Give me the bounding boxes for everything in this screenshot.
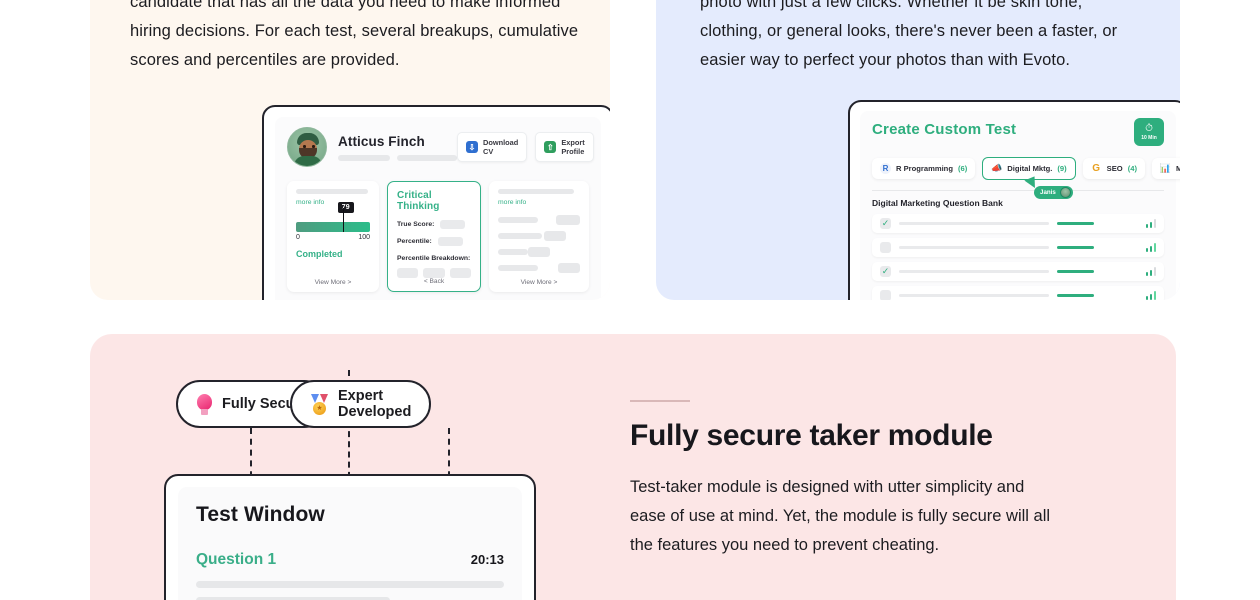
- skeleton-bar: [338, 155, 390, 161]
- tab-seo-count: (4): [1128, 164, 1137, 173]
- percentile-breakdown-boxes: [397, 268, 471, 278]
- pink-section-paragraph: Test-taker module is designed with utter…: [630, 473, 1060, 560]
- percentile-breakdown-label: Percentile Breakdown:: [397, 255, 471, 262]
- question-row[interactable]: [872, 286, 1164, 300]
- score-gauge-bar: [296, 222, 370, 232]
- create-test-mockup-inner: Create Custom Test ⏱ 10 Min R R Programm…: [860, 111, 1176, 300]
- download-cv-button[interactable]: ⇩ Download CV: [457, 132, 527, 162]
- skeleton-bar: [498, 265, 538, 271]
- question-row[interactable]: ✓: [872, 262, 1164, 281]
- difficulty-bars-icon: [1146, 243, 1156, 252]
- details-row: [498, 231, 580, 241]
- tab-seo-label: SEO: [1107, 164, 1123, 173]
- percentile-label: Percentile:: [397, 238, 432, 245]
- question-progress-bar: [1057, 270, 1094, 274]
- score-gauge-pin: [343, 208, 345, 232]
- page-root: candidate that has all the data you need…: [0, 0, 1260, 600]
- collaborator-tooltip: Janis: [1034, 186, 1073, 199]
- avatar-eye-left: [303, 145, 306, 148]
- avatar-eye-right: [312, 145, 315, 148]
- pink-section-heading: Fully secure taker module: [630, 419, 1090, 453]
- skeleton-bar: [498, 249, 528, 255]
- tab-ms-power-label: MS Powe: [1176, 164, 1180, 173]
- profile-header: Atticus Finch ⇩ Download CV ⇧: [287, 127, 589, 167]
- download-cv-label: Download CV: [483, 138, 518, 156]
- badge-expert-developed-label: Expert Developed: [338, 388, 411, 420]
- tab-digital-mktg-label: Digital Mktg.: [1007, 164, 1052, 173]
- heading-rule: [630, 400, 690, 402]
- profile-actions: ⇩ Download CV ⇧ Export Profile: [457, 132, 594, 162]
- skill-card[interactable]: Critical Thinking True Score: Percentile…: [387, 181, 481, 292]
- question-text-placeholder: [196, 581, 504, 588]
- question-text-placeholder: [899, 222, 1049, 225]
- profile-meta-placeholders: [338, 155, 457, 161]
- details-view-more-link[interactable]: View More >: [489, 279, 589, 286]
- timer-label: 10 Min: [1141, 135, 1157, 141]
- badge-label-line1: Expert: [338, 388, 383, 404]
- question-progress-bar: [1057, 246, 1094, 250]
- skill-card-back-link[interactable]: < Back: [388, 278, 480, 285]
- test-window-timer: 20:13: [471, 552, 504, 567]
- badge-label-line2: Developed: [338, 404, 411, 420]
- cream-card-paragraph: candidate that has all the data you need…: [130, 0, 580, 75]
- badge-expert-developed: ★ Expert Developed: [290, 380, 431, 428]
- question-row[interactable]: ✓: [872, 214, 1164, 233]
- timer-badge[interactable]: ⏱ 10 Min: [1134, 118, 1164, 146]
- details-card[interactable]: more info: [489, 181, 589, 292]
- skill-card-title: Critical Thinking: [397, 190, 471, 212]
- difficulty-bars-icon: [1146, 219, 1156, 228]
- question-text-placeholder: [899, 294, 1049, 297]
- gauge-max-label: 100: [358, 234, 370, 241]
- score-status: Completed: [296, 249, 370, 259]
- details-row: [498, 247, 580, 257]
- score-gauge-axis: 0 100: [296, 234, 370, 241]
- score-view-more-link[interactable]: View More >: [287, 279, 379, 286]
- feature-card-cream: candidate that has all the data you need…: [90, 0, 610, 300]
- details-row: [498, 215, 580, 225]
- test-window-question-row: Question 1 20:13: [196, 551, 504, 569]
- details-rows: [498, 215, 580, 273]
- checkbox-checked-icon[interactable]: ✓: [880, 218, 891, 229]
- pink-section-text: Fully secure taker module Test-taker mod…: [630, 400, 1090, 560]
- skeleton-chip: [528, 247, 550, 257]
- breakdown-box: [423, 268, 444, 278]
- details-row: [498, 263, 580, 273]
- percentile-value: [438, 237, 463, 246]
- percentile-row: Percentile:: [397, 237, 471, 246]
- test-window-title: Test Window: [196, 503, 504, 527]
- subject-tabs: R R Programming (6) 📣 Digital Mktg. (9) …: [872, 157, 1164, 180]
- tab-digital-mktg-count: (9): [1057, 164, 1066, 173]
- avatar-body: [294, 156, 322, 167]
- tab-r-programming[interactable]: R R Programming (6): [872, 158, 975, 179]
- feature-card-blue: photo with just a few clicks. Whether it…: [656, 0, 1180, 300]
- question-row[interactable]: [872, 238, 1164, 257]
- upload-icon: ⇧: [544, 141, 556, 153]
- breakdown-box: [397, 268, 418, 278]
- question-progress-bar: [1057, 294, 1094, 298]
- tab-seo[interactable]: G SEO (4): [1083, 158, 1145, 179]
- r-logo-icon: R: [880, 163, 891, 174]
- test-window-inner: Test Window Question 1 20:13: [178, 487, 522, 600]
- tab-digital-mktg[interactable]: 📣 Digital Mktg. (9): [982, 157, 1075, 180]
- profile-name-block: Atticus Finch: [338, 134, 457, 161]
- skeleton-chip: [558, 263, 580, 273]
- feature-section-pink: Fully Secure ★ Expert Developed Test Win…: [90, 334, 1176, 600]
- difficulty-bars-icon: [1146, 291, 1156, 300]
- checkbox-unchecked-icon[interactable]: [880, 242, 891, 253]
- collaborator-name: Janis: [1040, 189, 1056, 196]
- question-list: ✓: [872, 214, 1164, 300]
- create-test-title: Create Custom Test: [872, 121, 1016, 138]
- skeleton-bar: [397, 155, 457, 161]
- skeleton-chip: [556, 215, 580, 225]
- skeleton-bar: [296, 189, 368, 194]
- divider: [872, 190, 1164, 191]
- download-icon: ⇩: [466, 141, 478, 153]
- stopwatch-icon: ⏱: [1145, 124, 1153, 134]
- tab-r-programming-label: R Programming: [896, 164, 953, 173]
- balloon-icon: [196, 394, 213, 415]
- chart-bars-icon: 📊: [1160, 163, 1171, 174]
- checkbox-checked-icon[interactable]: ✓: [880, 266, 891, 277]
- profile-mockup-inner: Atticus Finch ⇩ Download CV ⇧: [275, 117, 601, 300]
- true-score-row: True Score:: [397, 220, 471, 229]
- collaborator-avatar: [1060, 187, 1071, 198]
- megaphone-icon: 📣: [991, 163, 1002, 174]
- question-progress-bar: [1057, 222, 1094, 226]
- skeleton-bar: [498, 217, 538, 223]
- skeleton-chip: [544, 231, 566, 241]
- true-score-value: [440, 220, 465, 229]
- export-profile-label: Export Profile: [561, 138, 584, 156]
- checkbox-unchecked-icon[interactable]: [880, 290, 891, 300]
- blue-card-paragraph: photo with just a few clicks. Whether it…: [700, 0, 1120, 75]
- score-value-badge: 79: [338, 202, 354, 213]
- secure-module-diagram: Fully Secure ★ Expert Developed Test Win…: [176, 370, 646, 600]
- question-text-placeholder: [899, 246, 1049, 249]
- score-card[interactable]: more info 79 0 100 Completed View More >: [287, 181, 379, 292]
- medal-icon: ★: [310, 394, 329, 415]
- profile-mockup: Atticus Finch ⇩ Download CV ⇧: [262, 105, 610, 300]
- true-score-label: True Score:: [397, 221, 434, 228]
- skeleton-bar: [498, 233, 542, 239]
- score-gauge: 79 0 100: [296, 222, 370, 241]
- details-card-more-info[interactable]: more info: [498, 199, 580, 206]
- question-text-placeholder: [899, 270, 1049, 273]
- tab-r-programming-count: (6): [958, 164, 967, 173]
- google-g-icon: G: [1091, 163, 1102, 174]
- test-window-question-label: Question 1: [196, 551, 276, 569]
- create-test-mockup: Create Custom Test ⏱ 10 Min R R Programm…: [848, 100, 1180, 300]
- profile-cards-row: more info 79 0 100 Completed View More >: [287, 181, 589, 292]
- score-card-more-info[interactable]: more info: [296, 199, 370, 206]
- question-bank-title: Digital Marketing Question Bank: [872, 198, 1164, 208]
- tab-ms-power[interactable]: 📊 MS Powe: [1152, 158, 1180, 179]
- breakdown-box: [450, 268, 471, 278]
- profile-name: Atticus Finch: [338, 134, 457, 149]
- test-window-mockup: Test Window Question 1 20:13: [164, 474, 536, 600]
- create-test-header: Create Custom Test ⏱ 10 Min: [872, 121, 1164, 146]
- difficulty-bars-icon: [1146, 267, 1156, 276]
- gauge-min-label: 0: [296, 234, 300, 241]
- export-profile-button[interactable]: ⇧ Export Profile: [535, 132, 593, 162]
- avatar: [287, 127, 327, 167]
- skeleton-bar: [498, 189, 574, 194]
